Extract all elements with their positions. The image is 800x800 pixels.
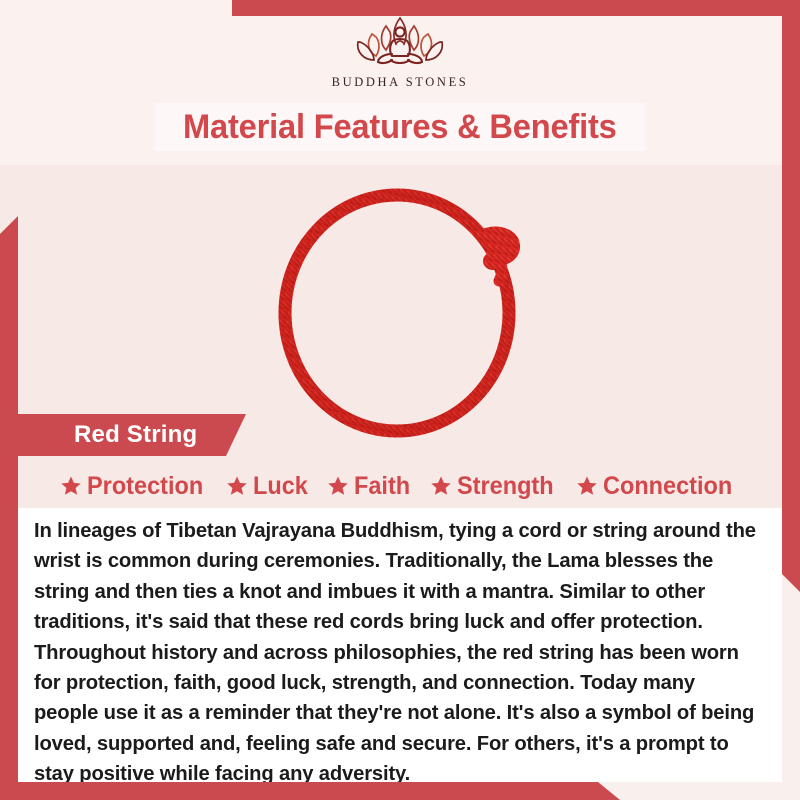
feature-item-luck: Luck	[220, 472, 317, 501]
star-icon	[576, 475, 598, 497]
brand-logo: BUDDHA STONES	[0, 10, 800, 90]
star-icon	[226, 475, 248, 497]
description-paragraph: In lineages of Tibetan Vajrayana Buddhis…	[18, 508, 782, 790]
feature-label: Connection	[603, 472, 732, 501]
brand-wordmark: BUDDHA STONES	[332, 75, 469, 90]
frame-top-bar	[232, 0, 800, 16]
ribbon-label: Red String	[74, 421, 197, 449]
lotus-meditation-icon	[336, 10, 464, 72]
title-banner: Material Features & Benefits	[155, 103, 645, 151]
red-string-ribbon: Red String	[18, 414, 246, 456]
features-row: Protection Luck Faith Strength Connectio…	[0, 466, 800, 506]
star-icon	[327, 475, 349, 497]
feature-item-connection: Connection	[570, 472, 747, 501]
feature-item-protection: Protection	[54, 472, 217, 501]
frame-left-bar	[0, 216, 18, 784]
hero-section	[0, 165, 800, 510]
description-panel: In lineages of Tibetan Vajrayana Buddhis…	[18, 508, 782, 782]
feature-item-strength: Strength	[424, 472, 566, 501]
product-image-red-string-bracelet	[255, 165, 555, 465]
frame-right-bar	[782, 0, 800, 592]
page-title: Material Features & Benefits	[183, 108, 617, 147]
frame-bottom-bar	[0, 782, 620, 800]
star-icon	[430, 475, 452, 497]
feature-item-faith: Faith	[321, 472, 420, 501]
star-icon	[60, 475, 82, 497]
feature-label: Faith	[354, 472, 410, 501]
feature-label: Protection	[87, 472, 203, 501]
feature-label: Strength	[457, 472, 554, 501]
feature-label: Luck	[253, 472, 308, 501]
